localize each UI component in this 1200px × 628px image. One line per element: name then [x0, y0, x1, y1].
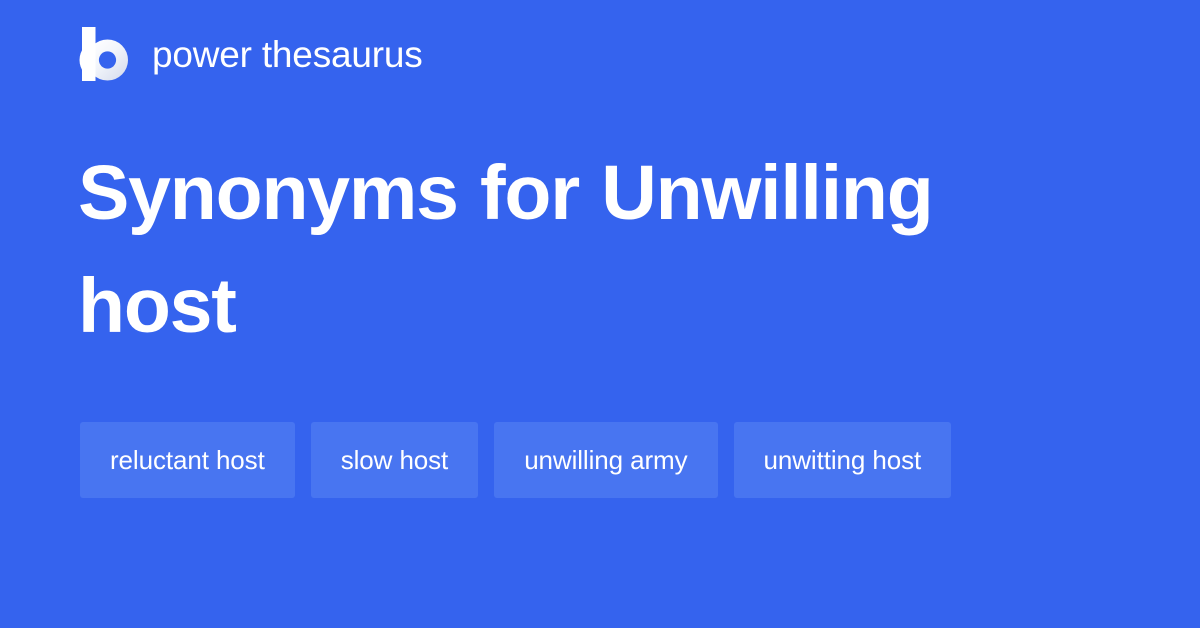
- share-card: power thesaurus Synonyms for Unwilling h…: [0, 0, 1200, 628]
- synonym-chip[interactable]: unwitting host: [734, 422, 952, 498]
- synonym-chip[interactable]: slow host: [311, 422, 478, 498]
- synonym-chip[interactable]: reluctant host: [80, 422, 295, 498]
- synonym-chip-list: reluctant host slow host unwilling army …: [80, 422, 1130, 498]
- power-thesaurus-b-logo-icon: [78, 26, 130, 82]
- brand-lockup[interactable]: power thesaurus: [78, 26, 423, 82]
- brand-name: power thesaurus: [152, 36, 423, 73]
- page-title: Synonyms for Unwilling host: [78, 137, 1078, 363]
- synonym-chip[interactable]: unwilling army: [494, 422, 717, 498]
